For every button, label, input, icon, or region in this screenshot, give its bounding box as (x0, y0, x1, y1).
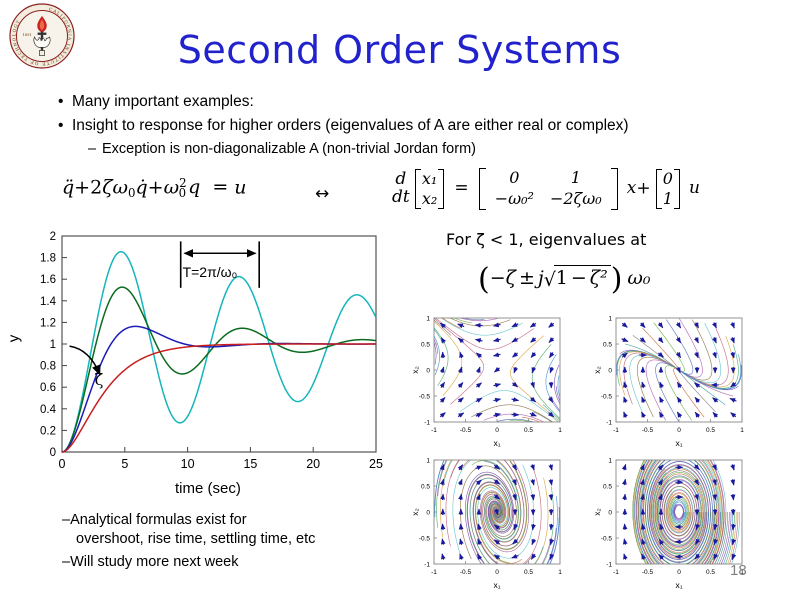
svg-text:-1: -1 (424, 420, 430, 427)
A-00: 0 (487, 168, 542, 189)
svg-text:0.5: 0.5 (524, 569, 533, 576)
svg-text:T=2π/ω₀: T=2π/ω₀ (183, 264, 238, 280)
svg-text:x₁: x₁ (675, 438, 682, 448)
svg-text:-0.5: -0.5 (460, 427, 472, 434)
svg-text:1: 1 (426, 316, 430, 323)
svg-text:0.5: 0.5 (421, 484, 430, 491)
svg-text:1: 1 (608, 316, 612, 323)
B-1: 1 (663, 189, 673, 208)
A-10: −ω₀² (487, 189, 542, 210)
svg-text:0: 0 (677, 569, 681, 576)
phase-portrait-degenerate-node: -1-0.500.51-1-0.500.51x₁x₂ (586, 310, 764, 450)
svg-text:x₁: x₁ (493, 580, 500, 590)
svg-text:-1: -1 (613, 427, 619, 434)
svg-text:0.4: 0.4 (40, 404, 57, 416)
svg-text:1.6: 1.6 (40, 274, 56, 286)
svg-text:1.2: 1.2 (40, 317, 56, 329)
svg-text:0.6: 0.6 (40, 382, 56, 394)
svg-text:x₁: x₁ (675, 580, 682, 590)
svg-text:0.8: 0.8 (40, 361, 56, 373)
chart-y-axis-label: y (5, 335, 22, 343)
q-double-dot: q̈ (62, 176, 74, 198)
bullet-marker: • (58, 92, 72, 113)
state-space-equation: d dt x₁ x₂ = 0 1 −ω₀² −2ζω₀ x+ 0 1 u (392, 168, 700, 210)
A-11: −2ζω₀ (542, 189, 610, 210)
equivalence-arrow: ↔ (315, 184, 329, 204)
bottom-bullet-1: –Will study more next week (62, 553, 239, 572)
equals-sign: = (212, 176, 228, 198)
bottom-bullet-line1: Analytical formulas exist for (70, 512, 246, 528)
svg-text:0: 0 (50, 447, 56, 459)
plus-sign: + (74, 176, 90, 198)
omega-subscript-2: 0 (179, 186, 187, 200)
slide-number: 18 (730, 562, 747, 579)
svg-text:-0.5: -0.5 (419, 394, 431, 401)
svg-text:2: 2 (50, 231, 56, 243)
svg-text:1.8: 1.8 (40, 253, 56, 265)
state-x1: x₁ (422, 169, 437, 188)
svg-text:0.5: 0.5 (603, 342, 612, 349)
state-x2: x₂ (422, 189, 437, 208)
svg-text:0: 0 (426, 510, 430, 517)
svg-text:-0.5: -0.5 (460, 569, 472, 576)
svg-text:x₂: x₂ (410, 508, 420, 516)
svg-text:-1: -1 (431, 427, 437, 434)
svg-text:x₂: x₂ (592, 366, 602, 374)
denominator-dt: dt (392, 187, 410, 207)
svg-text:0.5: 0.5 (706, 427, 715, 434)
minus-zeta: −ζ (490, 267, 516, 289)
svg-text:1: 1 (426, 458, 430, 465)
svg-text:-0.5: -0.5 (601, 536, 613, 543)
svg-text:0: 0 (59, 457, 66, 471)
zeta-symbol: ζ (102, 176, 112, 198)
q-dot: q̇ (136, 176, 148, 198)
equals-sign: = (454, 178, 468, 198)
svg-text:20: 20 (306, 457, 320, 471)
state-vector: x₁ x₂ (415, 169, 444, 209)
svg-text:-1: -1 (606, 562, 612, 569)
chart-x-axis-label: time (sec) (175, 480, 241, 497)
svg-text:1: 1 (740, 427, 744, 434)
svg-text:0.5: 0.5 (524, 427, 533, 434)
omega-symbol: ω (113, 176, 129, 198)
svg-text:0: 0 (495, 427, 499, 434)
svg-text:1.4: 1.4 (40, 296, 57, 308)
svg-text:0.2: 0.2 (40, 425, 56, 437)
eigenvalue-formula: (−ζ±j√1−ζ²)ω₀ (478, 262, 651, 297)
svg-text:-1: -1 (613, 569, 619, 576)
svg-text:0.5: 0.5 (421, 342, 430, 349)
svg-text:x₂: x₂ (410, 366, 420, 374)
omega-subscript: 0 (128, 186, 136, 200)
svg-text:0: 0 (495, 569, 499, 576)
A-matrix: 0 1 −ω₀² −2ζω₀ (479, 168, 618, 210)
svg-text:25: 25 (369, 457, 383, 471)
svg-text:0.5: 0.5 (706, 569, 715, 576)
bullet-text: Insight to response for higher orders (e… (72, 117, 629, 134)
radical-sign: √ (544, 269, 556, 291)
zeta-squared: ζ² (590, 267, 608, 289)
svg-text:15: 15 (243, 457, 257, 471)
omega-symbol-2: ω (164, 176, 180, 198)
close-paren: ) (611, 262, 623, 297)
svg-text:-1: -1 (424, 562, 430, 569)
svg-text:-1: -1 (606, 420, 612, 427)
bottom-bullet-line2: overshoot, rise time, settling time, etc (76, 531, 315, 547)
svg-text:-0.5: -0.5 (642, 569, 654, 576)
bullet-marker: • (58, 116, 72, 137)
x-vector: x (627, 178, 637, 198)
q-symbol: q (188, 176, 200, 198)
bullet-item-2: –Exception is non-diagonalizable A (non-… (88, 140, 476, 160)
svg-text:0.5: 0.5 (603, 484, 612, 491)
bottom-bullet-line1: Will study more next week (70, 554, 238, 570)
svg-text:1: 1 (558, 427, 562, 434)
ode-equation: q̈+2ζω0q̇+ω20q =u (62, 176, 246, 200)
d-dt-operator: d dt (392, 171, 410, 207)
svg-text:ζ: ζ (95, 370, 104, 389)
A-01: 1 (542, 168, 610, 189)
svg-text:1: 1 (558, 569, 562, 576)
one: 1 (556, 267, 568, 289)
plus-sign-2: + (148, 176, 164, 198)
step-response-chart: 00.20.40.60.811.21.41.61.820510152025T=2… (16, 228, 384, 500)
bottom-bullet-0: –Analytical formulas exist for overshoot… (62, 511, 315, 549)
omega-zero: ω₀ (627, 267, 650, 289)
bullet-item-0: •Many important examples: (58, 92, 254, 113)
svg-text:10: 10 (181, 457, 195, 471)
svg-text:0: 0 (608, 368, 612, 375)
svg-text:-1: -1 (431, 569, 437, 576)
svg-text:0: 0 (426, 368, 430, 375)
open-paren: ( (478, 262, 490, 297)
svg-text:x₁: x₁ (493, 438, 500, 448)
B-0: 0 (663, 169, 673, 188)
bullet-marker: – (62, 512, 70, 528)
square-root: √1−ζ² (544, 267, 611, 289)
svg-text:-0.5: -0.5 (642, 427, 654, 434)
bullet-item-1: •Insight to response for higher orders (… (58, 116, 629, 137)
svg-text:0: 0 (608, 510, 612, 517)
svg-text:-0.5: -0.5 (601, 394, 613, 401)
u-symbol: u (689, 178, 700, 198)
bullet-text: Many important examples: (72, 93, 254, 110)
minus-sign: − (571, 267, 587, 289)
B-matrix: 0 1 (656, 169, 680, 209)
eigenvalue-condition-text: For ζ < 1, eigenvalues at (446, 230, 646, 249)
phase-portrait-stable-spiral: -1-0.500.51-1-0.500.51x₁x₂ (404, 452, 582, 592)
bullet-marker: – (88, 140, 102, 160)
svg-text:1: 1 (50, 339, 56, 351)
svg-text:5: 5 (121, 457, 128, 471)
svg-text:x₂: x₂ (592, 508, 602, 516)
coef-2: 2 (90, 176, 102, 198)
u-symbol: u (234, 176, 246, 198)
bullet-text: Exception is non-diagonalizable A (non-t… (102, 141, 476, 157)
svg-text:1: 1 (608, 458, 612, 465)
phase-portrait-overdamped-node: -1-0.500.51-1-0.500.51x₁x₂ (404, 310, 582, 450)
bullet-marker: – (62, 554, 70, 570)
page-title: Second Order Systems (0, 28, 799, 72)
plus-minus-sign: ± (519, 267, 535, 289)
plus-sign: + (636, 178, 650, 198)
svg-text:0: 0 (677, 427, 681, 434)
svg-text:-0.5: -0.5 (419, 536, 431, 543)
